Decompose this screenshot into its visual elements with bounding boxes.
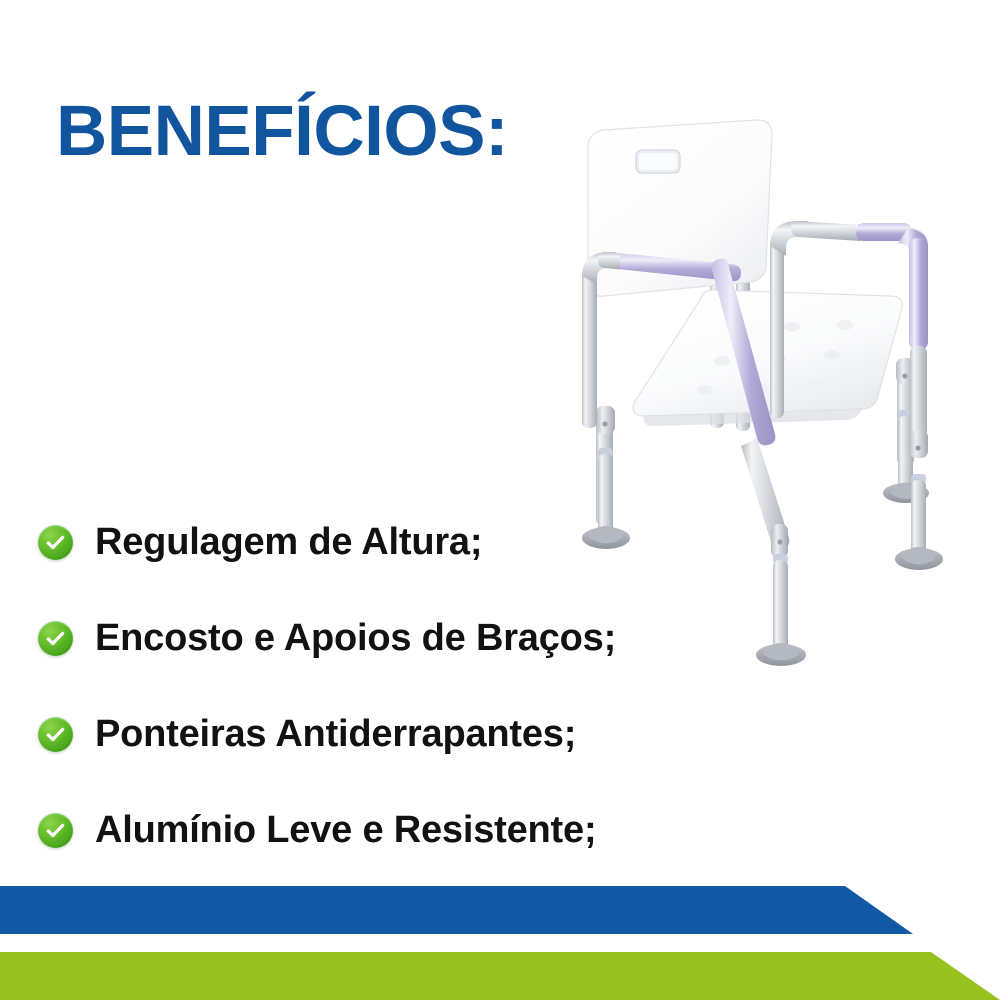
- benefits-list: Regulagem de Altura; Encosto e Apoios de…: [38, 494, 738, 878]
- list-item: Regulagem de Altura;: [38, 494, 738, 590]
- list-item: Ponteiras Antiderrapantes;: [38, 686, 738, 782]
- check-circle-icon: [38, 813, 73, 848]
- banner-blue-stripe: [0, 886, 1000, 934]
- list-item: Encosto e Apoios de Braços;: [38, 590, 738, 686]
- benefit-label: Encosto e Apoios de Braços;: [95, 617, 616, 660]
- page-title: BENEFÍCIOS:: [56, 96, 508, 167]
- check-circle-icon: [38, 717, 73, 752]
- check-circle-icon: [38, 525, 73, 560]
- benefit-label: Ponteiras Antiderrapantes;: [95, 713, 576, 756]
- check-circle-icon: [38, 621, 73, 656]
- list-item: Alumínio Leve e Resistente;: [38, 782, 738, 878]
- benefit-label: Regulagem de Altura;: [95, 521, 482, 564]
- poster-canvas: BENEFÍCIOS:: [0, 0, 1000, 1000]
- banner-green-stripe: [0, 952, 1000, 1000]
- benefit-label: Alumínio Leve e Resistente;: [95, 809, 596, 852]
